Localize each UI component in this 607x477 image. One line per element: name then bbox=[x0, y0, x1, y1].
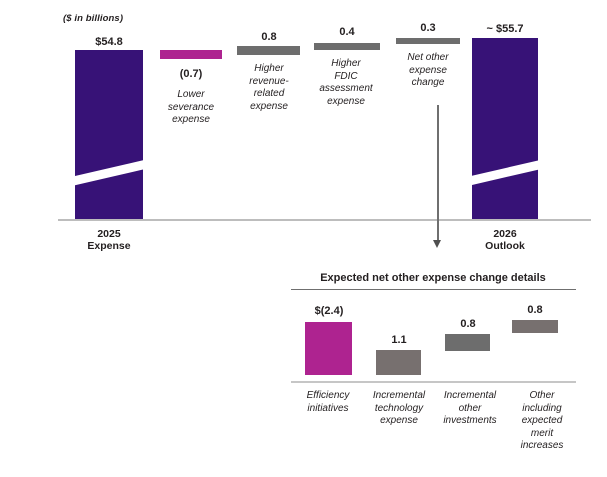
cat-other-line1: Other bbox=[508, 390, 576, 403]
value-label-2025-expense: $54.8 bbox=[75, 36, 143, 48]
desc-fdic-line1: Higher bbox=[308, 58, 384, 71]
desc-severance-line3: expense bbox=[152, 114, 230, 127]
cat-tech-line2: technology bbox=[363, 403, 435, 416]
desc-fdic-line4: expense bbox=[308, 96, 384, 109]
category-label-other-including-merit-increases: Other including expected merit increases bbox=[508, 390, 576, 453]
category-label-incremental-technology-expense: Incremental technology expense bbox=[363, 390, 435, 428]
desc-netother-line2: expense bbox=[390, 65, 466, 78]
value-label-net-other-expense-change: 0.3 bbox=[394, 22, 462, 34]
bar-2026-outlook[interactable] bbox=[472, 38, 538, 219]
desc-severance-line1: Lower bbox=[152, 89, 230, 102]
desc-label-higher-revenue-related-expense: Higher revenue- related expense bbox=[232, 63, 306, 113]
axis-label-2026-line2: Outlook bbox=[461, 240, 549, 252]
desc-revenue-line3: related bbox=[232, 88, 306, 101]
connector-arrow-head-icon bbox=[433, 240, 441, 248]
bar-net-other-expense-change[interactable] bbox=[396, 38, 460, 44]
units-note: ($ in billions) bbox=[63, 13, 123, 24]
value-label-incremental-other-investments: 0.8 bbox=[439, 318, 497, 330]
cat-other-line4: merit bbox=[508, 428, 576, 441]
axis-label-2025-line2: Expense bbox=[65, 240, 153, 252]
desc-label-lower-severance-expense: Lower severance expense bbox=[152, 89, 230, 127]
desc-fdic-line2: FDIC bbox=[308, 71, 384, 84]
top-panel-baseline bbox=[58, 219, 591, 221]
value-label-other-including-merit-increases: 0.8 bbox=[506, 304, 564, 316]
detail-panel-baseline bbox=[291, 381, 576, 383]
connector-arrow-shaft bbox=[437, 105, 439, 241]
waterfall-chart-slide: ($ in billions) $54.8 2025 Expense (0.7)… bbox=[0, 0, 607, 477]
desc-revenue-line2: revenue- bbox=[232, 76, 306, 89]
bar-incremental-other-investments[interactable] bbox=[445, 334, 490, 351]
category-label-efficiency-initiatives: Efficiency initiatives bbox=[293, 390, 363, 415]
detail-panel-title-rule bbox=[291, 289, 576, 290]
desc-label-net-other-expense-change: Net other expense change bbox=[390, 52, 466, 90]
desc-revenue-line4: expense bbox=[232, 101, 306, 114]
bar-2025-expense[interactable] bbox=[75, 50, 143, 219]
cat-efficiency-line2: initiatives bbox=[293, 403, 363, 416]
bar-incremental-technology-expense[interactable] bbox=[376, 350, 421, 375]
axis-label-2026-outlook: 2026 Outlook bbox=[461, 228, 549, 252]
detail-panel-title: Expected net other expense change detail… bbox=[288, 272, 578, 284]
axis-label-2025-expense: 2025 Expense bbox=[65, 228, 153, 252]
cat-investments-line1: Incremental bbox=[434, 390, 506, 403]
axis-break-slash-icon bbox=[472, 158, 538, 187]
cat-other-line5: increases bbox=[508, 440, 576, 453]
cat-tech-line1: Incremental bbox=[363, 390, 435, 403]
desc-netother-line1: Net other bbox=[390, 52, 466, 65]
cat-investments-line2: other bbox=[434, 403, 506, 416]
cat-tech-line3: expense bbox=[363, 415, 435, 428]
desc-revenue-line1: Higher bbox=[232, 63, 306, 76]
cat-investments-line3: investments bbox=[434, 415, 506, 428]
axis-label-2026-line1: 2026 bbox=[461, 228, 549, 240]
value-label-incremental-technology-expense: 1.1 bbox=[370, 334, 428, 346]
value-label-higher-fdic-assessment-expense: 0.4 bbox=[312, 26, 382, 38]
value-label-lower-severance-expense: (0.7) bbox=[155, 68, 227, 80]
axis-break-slash-icon bbox=[75, 158, 143, 188]
cat-efficiency-line1: Efficiency bbox=[293, 390, 363, 403]
bar-efficiency-initiatives[interactable] bbox=[305, 322, 352, 375]
value-label-2026-outlook: ~ $55.7 bbox=[466, 23, 544, 35]
desc-netother-line3: change bbox=[390, 77, 466, 90]
desc-severance-line2: severance bbox=[152, 102, 230, 115]
bar-higher-revenue-related-expense[interactable] bbox=[237, 46, 300, 55]
bar-higher-fdic-assessment-expense[interactable] bbox=[314, 43, 380, 50]
cat-other-line2: including bbox=[508, 403, 576, 416]
category-label-incremental-other-investments: Incremental other investments bbox=[434, 390, 506, 428]
axis-label-2025-line1: 2025 bbox=[65, 228, 153, 240]
value-label-higher-revenue-related-expense: 0.8 bbox=[234, 31, 304, 43]
bar-lower-severance-expense[interactable] bbox=[160, 50, 222, 59]
value-label-efficiency-initiatives: $(2.4) bbox=[300, 305, 358, 317]
cat-other-line3: expected bbox=[508, 415, 576, 428]
desc-label-higher-fdic-assessment-expense: Higher FDIC assessment expense bbox=[308, 58, 384, 108]
desc-fdic-line3: assessment bbox=[308, 83, 384, 96]
bar-other-including-merit-increases[interactable] bbox=[512, 320, 558, 333]
